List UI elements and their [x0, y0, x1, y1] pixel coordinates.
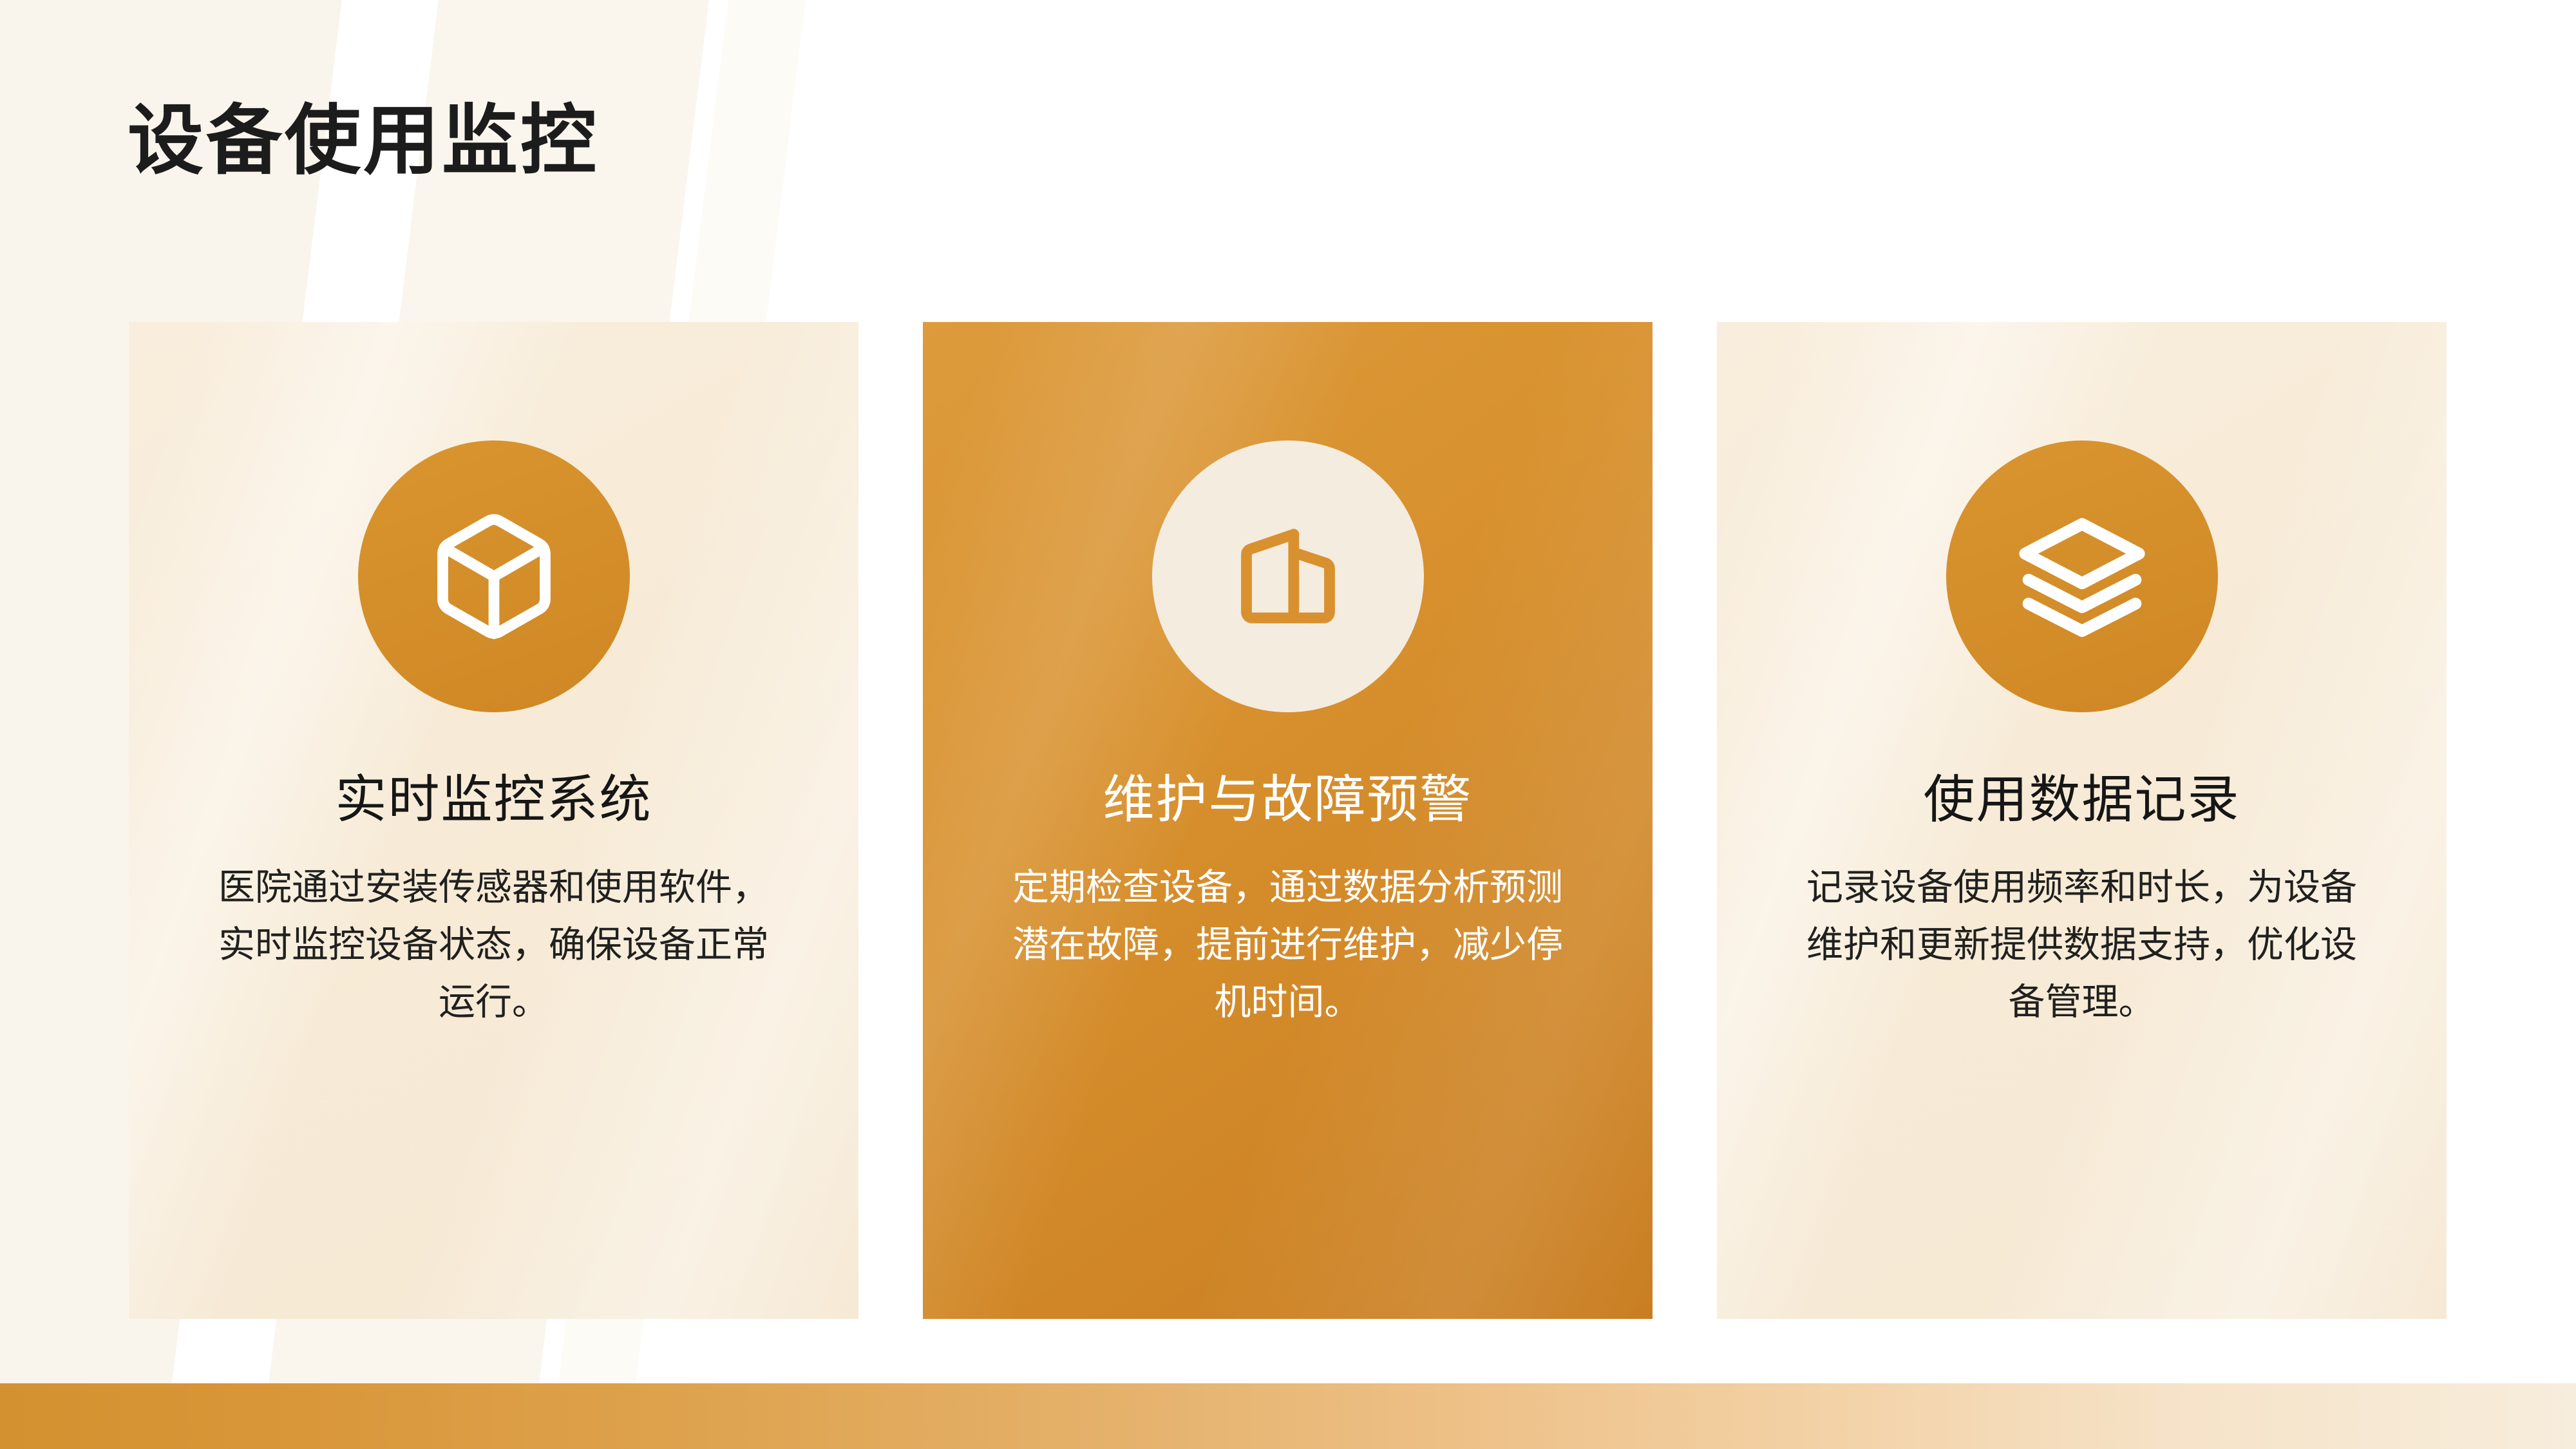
layers-icon [2014, 508, 2150, 645]
feature-card-row: 实时监控系统 医院通过安装传感器和使用软件，实时监控设备状态，确保设备正常运行。… [129, 322, 2447, 1319]
feature-card-realtime-monitoring[interactable]: 实时监控系统 医院通过安装传感器和使用软件，实时监控设备状态，确保设备正常运行。 [129, 322, 858, 1319]
card-body-text: 医院通过安装传感器和使用软件，实时监控设备状态，确保设备正常运行。 [201, 859, 787, 1031]
card-heading: 维护与故障预警 [1103, 770, 1473, 829]
page-title: 设备使用监控 [128, 97, 599, 186]
card-heading: 实时监控系统 [336, 770, 652, 829]
buildings-icon [1220, 508, 1356, 645]
card-heading: 使用数据记录 [1924, 770, 2240, 829]
cube-icon-badge [358, 440, 630, 712]
feature-card-maintenance-alert[interactable]: 维护与故障预警 定期检查设备，通过数据分析预测潜在故障，提前进行维护，减少停机时… [923, 322, 1653, 1319]
layers-icon-badge [1946, 440, 2218, 712]
buildings-icon-badge [1152, 440, 1424, 712]
card-body-text: 定期检查设备，通过数据分析预测潜在故障，提前进行维护，减少停机时间。 [995, 859, 1581, 1031]
feature-card-usage-records[interactable]: 使用数据记录 记录设备使用频率和时长，为设备维护和更新提供数据支持，优化设备管理… [1717, 322, 2447, 1319]
cube-icon [426, 508, 562, 645]
card-body-text: 记录设备使用频率和时长，为设备维护和更新提供数据支持，优化设备管理。 [1789, 859, 2375, 1031]
slide-canvas: 设备使用监控 实时监控系统 医院通过安装传感器和使用软件，实时监控设备状态，确保… [0, 0, 2576, 1449]
bottom-accent-bar [0, 1383, 2576, 1449]
